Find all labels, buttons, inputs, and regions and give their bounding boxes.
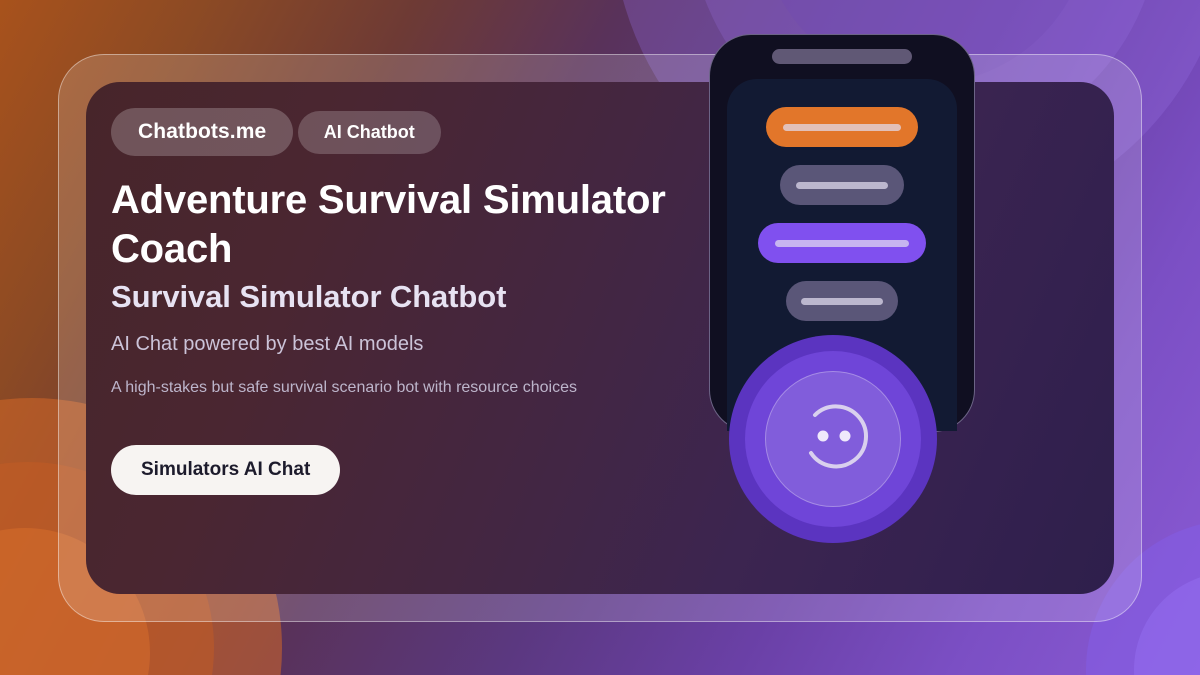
cta-button[interactable]: Simulators AI Chat [111,445,340,495]
smiley-face-icon [785,391,881,487]
status-bar-pill [772,49,912,64]
copy-column: Chatbots.me AI Chatbot Adventure Surviva… [111,108,751,495]
chat-bubble [786,281,898,321]
chat-message-list [727,107,957,321]
description-text: A high-stakes but safe survival scenario… [111,376,751,399]
chat-bubble-text-placeholder [801,298,883,305]
chat-bubble-text-placeholder [783,124,901,131]
chat-bubble-text-placeholder [796,182,888,189]
brand-badge[interactable]: Chatbots.me [111,108,293,156]
tagline-text: AI Chat powered by best AI models [111,330,751,358]
decor-circle-bottom-right-2 [1134,572,1200,675]
chat-bubble [758,223,926,263]
page-subtitle: Survival Simulator Chatbot [111,278,751,316]
hero-banner: Chatbots.me AI Chatbot Adventure Surviva… [0,0,1200,675]
chat-bubble [766,107,918,147]
chat-bubble-text-placeholder [775,240,909,247]
avatar [729,335,937,543]
page-title: Adventure Survival Simulator Coach [111,176,751,274]
chat-bubble [780,165,904,205]
category-badge[interactable]: AI Chatbot [298,111,441,154]
